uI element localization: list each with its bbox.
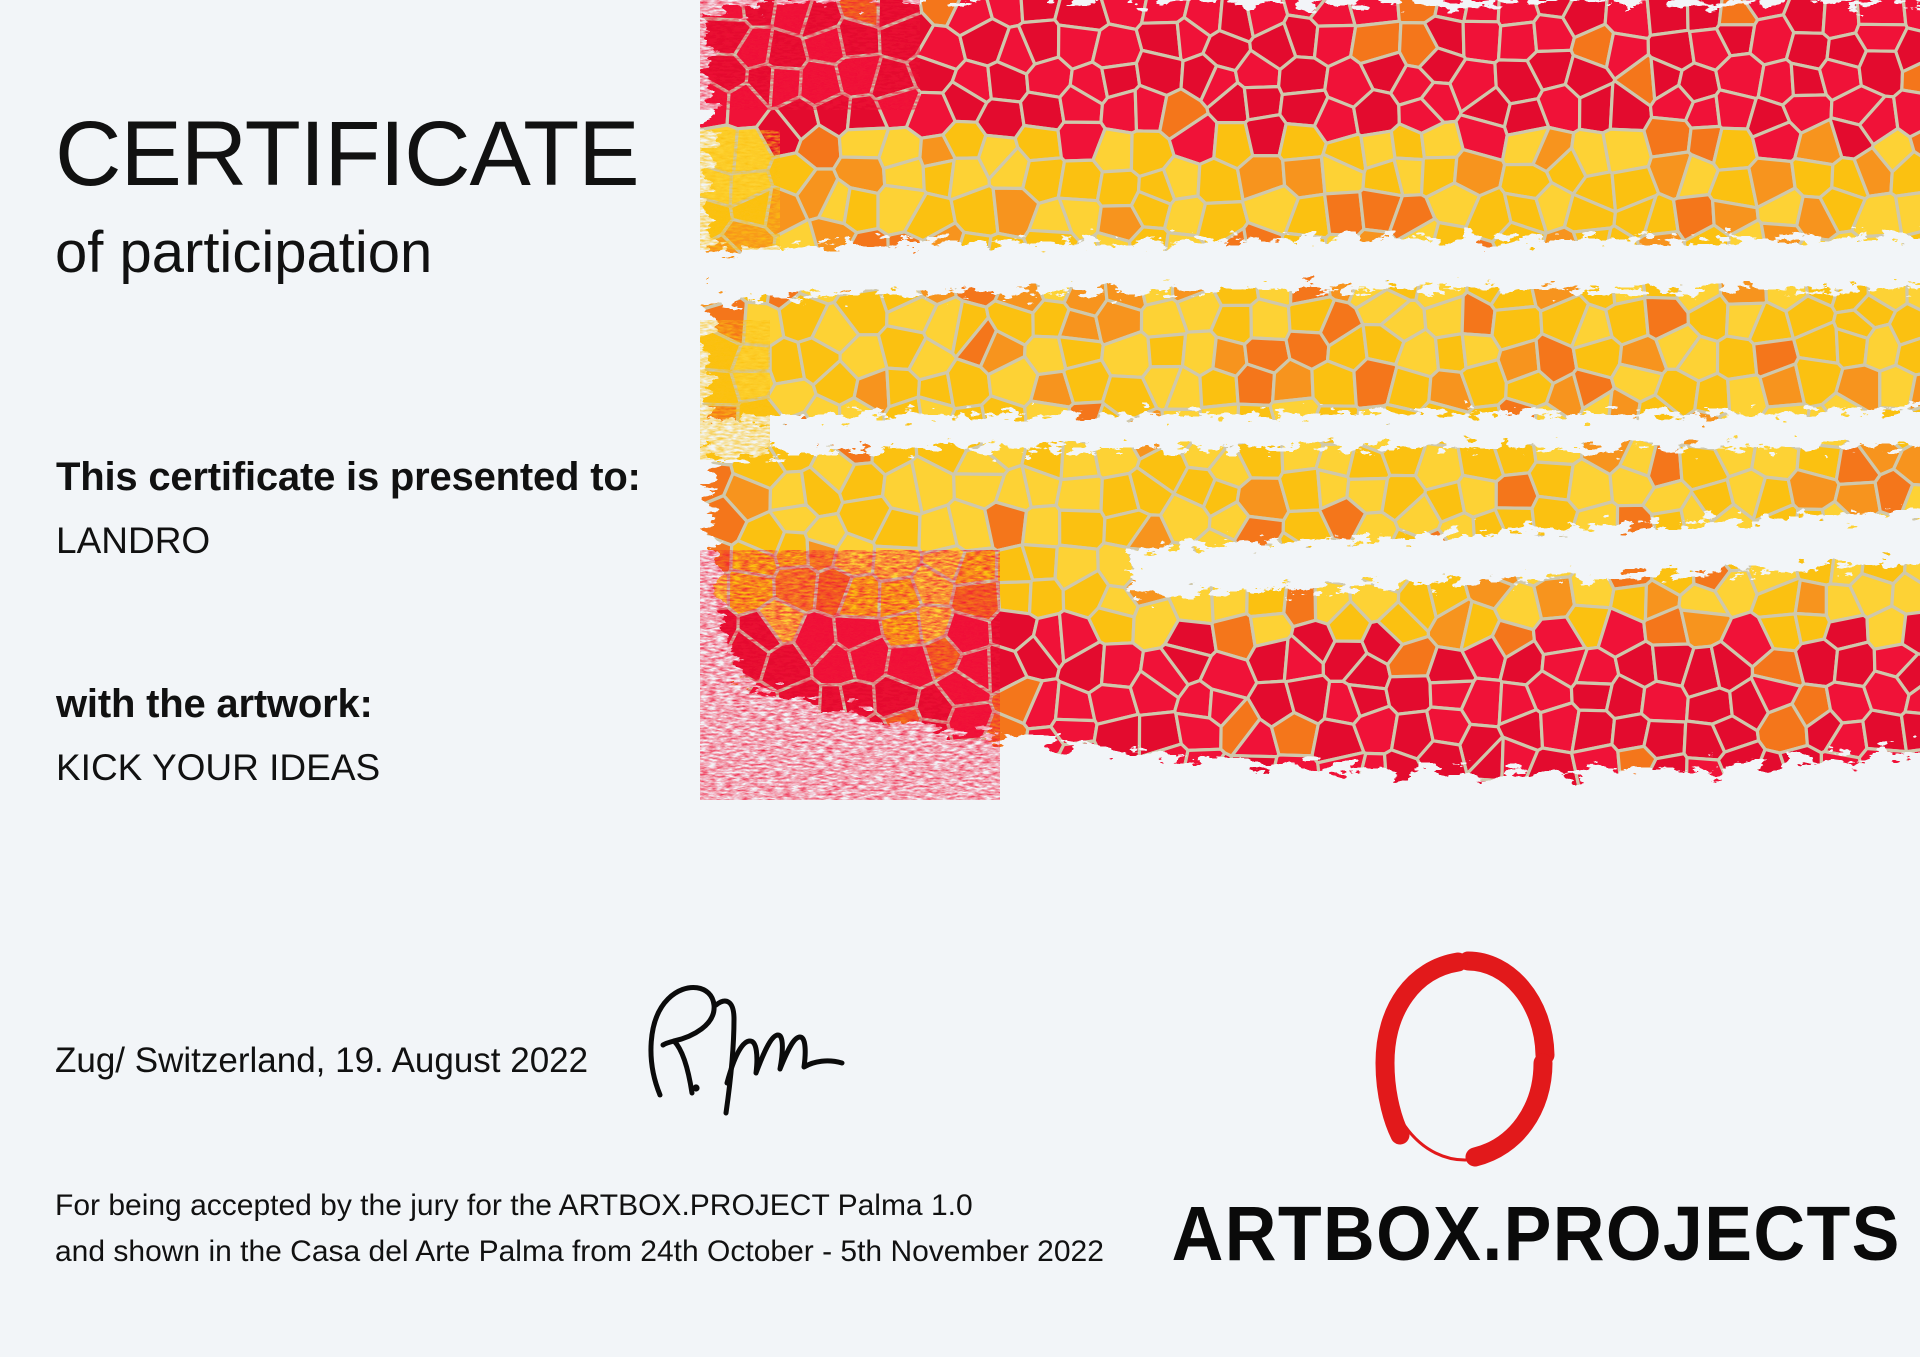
mosaic-cell: [1201, 753, 1238, 801]
mosaic-cell: [700, 706, 742, 750]
mosaic-cell: [1427, 707, 1471, 745]
mosaic-cell: [1430, 681, 1474, 710]
mosaic-cell: [1291, 266, 1331, 305]
mosaic-cell: [1133, 598, 1179, 651]
mosaic-cell: [1751, 675, 1801, 713]
mosaic-cell: [811, 770, 850, 817]
mosaic-cell: [1859, 749, 1906, 793]
mosaic-cell: [1058, 777, 1097, 818]
mosaic-cell: [700, 608, 738, 647]
mosaic-cell: [1170, 825, 1206, 862]
mosaic-cell: [1059, 337, 1104, 369]
mosaic-cell: [1322, 154, 1365, 194]
mosaic-cell: [1015, 0, 1080, 23]
mosaic-cell: [1641, 681, 1688, 722]
mosaic-cell: [1527, 50, 1573, 90]
mosaic-cell: [772, 819, 821, 862]
mosaic-cell: [1089, 608, 1135, 644]
mosaic-cell: [1564, 194, 1615, 232]
mosaic-cell: [1711, 641, 1752, 691]
mosaic-cell: [1104, 510, 1150, 548]
mosaic-cell: [1571, 683, 1612, 711]
mosaic-cell: [738, 511, 785, 556]
mosaic-cell: [1210, 689, 1247, 727]
mosaic-cell: [1385, 750, 1428, 799]
mosaic-cell: [1027, 57, 1073, 97]
mosaic-cell: [1716, 90, 1756, 129]
mosaic-cell: [731, 371, 775, 402]
mosaic-cell: [1503, 127, 1550, 165]
mosaic-cell: [1396, 329, 1439, 377]
mosaic-cell: [1064, 274, 1107, 317]
mosaic-cell: [1183, 331, 1217, 376]
mosaic-cell: [956, 318, 997, 367]
mosaic-cell: [1394, 158, 1423, 196]
mosaic-cell: [1200, 651, 1257, 698]
mosaic-cell: [1030, 579, 1064, 619]
mosaic-cell: [1161, 494, 1211, 545]
mosaic-cell: [1831, 540, 1865, 586]
brand-wordmark: ARTBOX.PROJECTS: [1172, 1190, 1879, 1279]
mosaic-cell: [848, 778, 882, 819]
mosaic-cell: [1718, 815, 1769, 858]
mosaic-cell: [849, 636, 891, 685]
mosaic-cell: [1395, 494, 1441, 538]
mosaic-cell: [919, 505, 957, 554]
mosaic-cell: [700, 570, 729, 619]
mosaic-cell: [1757, 188, 1803, 226]
mosaic-cell: [1381, 300, 1426, 341]
mosaic-cell: [1462, 292, 1495, 336]
mosaic-cell: [735, 27, 773, 69]
mosaic-cell: [1273, 359, 1314, 402]
mosaic-cell: [1392, 846, 1439, 890]
mosaic-cell: [1142, 367, 1181, 411]
mosaic-cell: [1750, 750, 1790, 799]
mosaic-cell: [1284, 579, 1316, 626]
mosaic-cell: [1859, 235, 1906, 272]
mosaic-cell: [1692, 543, 1730, 591]
mosaic-cell: [819, 179, 851, 224]
mosaic-cell: [1797, 444, 1842, 480]
mosaic-cell: [1826, 584, 1863, 622]
mosaic-cell: [1892, 770, 1920, 817]
mosaic-cell: [739, 744, 784, 789]
mosaic-cell: [772, 0, 825, 36]
mosaic-cell: [1822, 790, 1870, 827]
mosaic-cell: [1795, 119, 1842, 164]
mosaic-cell: [798, 338, 840, 385]
mosaic-cell: [1674, 195, 1715, 241]
mosaic-cell: [1656, 324, 1700, 369]
mosaic-cell: [1356, 289, 1410, 324]
mosaic-cell: [1021, 92, 1064, 130]
mosaic-cell: [912, 747, 957, 785]
mosaic-cell: [1858, 512, 1913, 552]
mosaic-cell: [1765, 264, 1808, 312]
mosaic-cell: [810, 445, 855, 494]
mosaic-cell: [1496, 473, 1538, 509]
mosaic-cell: [1019, 20, 1059, 64]
mosaic-cell: [1135, 85, 1167, 131]
mosaic-cell: [985, 502, 1027, 551]
artbox-ring-icon: [1350, 945, 1580, 1175]
mosaic-cell: [1310, 406, 1358, 445]
mosaic-cell: [1752, 431, 1799, 480]
mosaic-cell: [1181, 54, 1217, 101]
mosaic-cell: [1105, 267, 1146, 311]
mosaic-cell: [1019, 855, 1101, 890]
mosaic-cell: [1051, 719, 1097, 744]
mosaic-cell: [1681, 492, 1712, 548]
mosaic-cell: [854, 368, 889, 415]
place-and-date: Zug/ Switzerland, 19. August 2022: [55, 1042, 588, 1081]
mosaic-cell: [1284, 635, 1323, 682]
mosaic-cell: [1850, 574, 1894, 618]
mosaic-cell: [1176, 713, 1221, 750]
mosaic-cell: [1749, 302, 1793, 344]
mosaic-cell: [1033, 300, 1069, 337]
mosaic-cell: [1542, 648, 1587, 688]
mosaic-cell: [878, 0, 922, 29]
mosaic-cell: [1283, 233, 1326, 268]
mosaic-cell: [1328, 324, 1368, 371]
mosaic-cell: [1644, 117, 1691, 157]
mosaic-cell: [1182, 854, 1215, 890]
mosaic-cell: [1525, 779, 1571, 822]
mosaic-cell: [1466, 187, 1511, 242]
mosaic-cell: [767, 28, 808, 69]
mosaic-cell: [803, 26, 845, 65]
mosaic-cell: [1572, 745, 1621, 796]
mosaic-cell: [1015, 636, 1059, 681]
mosaic-cell: [1289, 297, 1335, 333]
mosaic-cell: [1864, 671, 1909, 715]
mosaic-cell: [1242, 818, 1288, 852]
mosaic-cell: [1130, 227, 1169, 270]
mosaic-cell: [1285, 194, 1329, 238]
mosaic-cell: [996, 545, 1033, 583]
mosaic-cell: [1496, 778, 1529, 820]
mosaic-cell: [1534, 577, 1575, 619]
mosaic-cell: [1022, 545, 1057, 581]
mosaic-cell: [1503, 0, 1619, 18]
mosaic-cell: [1093, 843, 1146, 891]
mosaic-cell: [1059, 25, 1101, 69]
mosaic-cell: [1453, 820, 1498, 864]
mosaic-cell: [1064, 360, 1111, 404]
mosaic-cell: [1652, 644, 1694, 686]
mosaic-cell: [1347, 819, 1401, 870]
mosaic-cell: [1283, 157, 1325, 198]
mosaic-cell: [1387, 367, 1431, 412]
mosaic-cell: [1160, 89, 1209, 140]
mosaic-cell: [797, 169, 838, 220]
mosaic-cell: [1573, 172, 1615, 212]
mosaic-cell: [1363, 325, 1404, 365]
mosaic-cell: [1210, 228, 1251, 272]
mosaic-cell: [1094, 435, 1140, 478]
mosaic-cell: [1247, 639, 1288, 683]
mosaic-cell: [1684, 721, 1725, 760]
mosaic-cell: [1094, 714, 1139, 763]
mosaic-cell: [1715, 412, 1758, 448]
mosaic-cell: [1207, 83, 1248, 123]
mosaic-cell: [1320, 300, 1363, 346]
mosaic-cell: [1390, 813, 1439, 850]
mosaic-cell: [1686, 95, 1720, 128]
mosaic-cell: [1162, 409, 1203, 454]
mosaic-cell: [1610, 585, 1646, 623]
mosaic-cell: [1028, 816, 1066, 857]
mosaic-cell: [830, 432, 874, 464]
mosaic-cell: [700, 253, 741, 316]
mosaic-cell: [1534, 425, 1583, 465]
mosaic-cell: [1826, 682, 1872, 723]
mosaic-cell: [1137, 446, 1188, 494]
mosaic-cell: [1055, 846, 1105, 890]
artwork-block: with the artwork: KICK YOUR IDEAS: [56, 682, 380, 789]
mosaic-cell: [1350, 512, 1398, 560]
mosaic-cell: [1852, 0, 1906, 25]
mosaic-cell: [1242, 539, 1290, 586]
mosaic-cell: [1382, 475, 1426, 521]
mosaic-cell: [1541, 295, 1589, 347]
mosaic-cell: [1455, 150, 1505, 196]
mosaic-cell: [1572, 129, 1610, 176]
mosaic-cell: [1632, 780, 1676, 815]
mosaic-cell: [948, 739, 994, 783]
mosaic-cell: [700, 520, 732, 573]
mosaic-cell: [700, 16, 752, 55]
mosaic-cell: [1642, 256, 1691, 298]
mosaic-cell: [1713, 200, 1759, 236]
mosaic-cell: [1606, 550, 1652, 589]
mosaic-cell: [1495, 60, 1543, 104]
mosaic-cell: [1795, 639, 1837, 687]
mosaic-cell: [1854, 862, 1920, 890]
mosaic-cell: [1136, 22, 1181, 59]
mosaic-cell: [1758, 614, 1801, 651]
mosaic-cell: [1672, 781, 1716, 827]
mosaic-cell: [1396, 219, 1439, 265]
artwork-label: with the artwork:: [56, 682, 380, 726]
mosaic-cell: [1383, 254, 1423, 301]
mosaic-cell: [743, 302, 784, 346]
mosaic-cell: [1875, 469, 1913, 518]
mosaic-cell: [1349, 265, 1388, 309]
mosaic-cell: [1456, 236, 1501, 286]
mosaic-cell: [1533, 403, 1577, 445]
mosaic-cell: [1642, 813, 1686, 859]
mosaic-cell: [1498, 710, 1543, 751]
mosaic-cell: [952, 232, 991, 274]
mosaic-cell: [924, 297, 963, 354]
mosaic-cell: [1089, 789, 1130, 821]
mosaic-cell: [1834, 642, 1875, 686]
mosaic-cell: [883, 461, 923, 515]
mosaic-cell: [1417, 741, 1467, 786]
mosaic-cell: [1314, 97, 1358, 143]
mosaic-cell: [945, 611, 991, 654]
mosaic-cell: [1557, 785, 1607, 837]
mosaic-cell: [924, 636, 962, 682]
mosaic-cell: [1400, 23, 1438, 68]
mosaic-cell: [700, 361, 740, 405]
mosaic-cell: [1175, 681, 1212, 719]
mosaic-cell: [1286, 675, 1330, 724]
mosaic-cell: [700, 814, 740, 862]
mosaic-cell: [1323, 641, 1367, 681]
mosaic-cell: [1820, 59, 1862, 101]
mosaic-cell: [1065, 402, 1103, 443]
mosaic-cell: [1214, 789, 1251, 839]
mosaic-cell: [1565, 55, 1614, 98]
mosaic-cell: [1685, 225, 1730, 272]
mosaic-cell: [716, 814, 772, 854]
mosaic-cell: [1354, 781, 1400, 822]
mosaic-cell: [1031, 783, 1064, 819]
mosaic-cell: [802, 467, 843, 517]
mosaic-cell: [731, 188, 772, 227]
mosaic-cell: [1761, 223, 1805, 266]
mosaic-cell: [1533, 128, 1574, 172]
mosaic-cell: [1831, 86, 1885, 125]
mosaic-cell: [836, 257, 883, 295]
mosaic-cell: [1236, 364, 1274, 405]
mosaic-cell: [1832, 158, 1869, 199]
mosaic-cell: [878, 326, 926, 370]
mosaic-cell: [1648, 444, 1682, 488]
mosaic-cell: [1491, 268, 1536, 310]
mosaic-cell: [1498, 340, 1539, 383]
mosaic-cell: [1596, 857, 1649, 890]
mosaic-cell: [1245, 115, 1286, 156]
mosaic-cell: [700, 454, 733, 521]
mosaic-cell: [1797, 196, 1839, 240]
mosaic-cell: [1138, 265, 1173, 305]
mosaic-cell: [872, 422, 917, 475]
mosaic-cell: [1495, 508, 1535, 546]
mosaic-cell: [1182, 430, 1226, 470]
mosaic-cell: [801, 0, 843, 39]
mosaic-cell: [926, 858, 974, 890]
mosaic-cell: [1536, 334, 1577, 384]
mosaic-cell: [1641, 853, 1696, 890]
mosaic-cell: [1635, 395, 1684, 444]
mosaic-cell: [949, 158, 989, 200]
mosaic-cell: [1714, 128, 1758, 170]
mosaic-cell: [1708, 536, 1761, 571]
mosaic-cell: [780, 746, 814, 793]
mosaic-cell: [1096, 300, 1142, 345]
mosaic-cell: [1351, 21, 1401, 63]
mosaic-cell: [1570, 502, 1618, 551]
mosaic-cell: [1617, 505, 1659, 553]
mosaic-cell: [1780, 745, 1822, 791]
mosaic-cell: [1804, 405, 1849, 448]
mosaic-cell: [805, 513, 847, 548]
mosaic-cell: [1314, 25, 1355, 66]
mosaic-cell: [1023, 158, 1065, 204]
mosaic-cell: [1822, 393, 1873, 441]
mosaic-cell: [1603, 226, 1642, 269]
mosaic-cell: [918, 372, 953, 406]
mosaic-cell: [874, 675, 920, 718]
mosaic-cell: [1901, 712, 1920, 752]
mosaic-cell: [1022, 466, 1061, 508]
mosaic-cell: [1528, 260, 1580, 311]
mosaic-cell: [700, 142, 732, 207]
mosaic-cell: [729, 629, 769, 681]
mosaic-cell: [849, 816, 891, 867]
mosaic-cell: [1025, 401, 1070, 439]
mosaic-cell: [879, 577, 922, 619]
mosaic-cell: [1398, 575, 1436, 632]
mosaic-cell: [1563, 0, 1614, 38]
mosaic-cell: [802, 742, 845, 787]
mosaic-cell: [1070, 236, 1113, 283]
mosaic-cell: [1359, 861, 1429, 890]
mosaic-cell: [1728, 375, 1768, 423]
mosaic-cell: [1573, 228, 1611, 270]
mosaic-cell: [1025, 336, 1066, 374]
mosaic-cell: [1547, 148, 1586, 194]
mosaic-cell: [1079, 0, 1165, 29]
mosaic-cell: [954, 474, 1005, 509]
mosaic-cell: [770, 67, 801, 109]
mosaic-cell: [873, 864, 942, 890]
mosaic-cell: [1752, 649, 1803, 687]
mosaic-cell: [1783, 815, 1828, 858]
mosaic-cell: [1213, 269, 1259, 305]
mosaic-cell: [1504, 193, 1546, 234]
mosaic-cell: [873, 508, 920, 549]
mosaic-cell: [948, 499, 993, 551]
mosaic-cell: [1726, 303, 1764, 340]
mosaic-cell: [700, 777, 750, 822]
mosaic-cell: [1498, 398, 1536, 445]
mosaic-cell: [839, 128, 888, 158]
mosaic-cell: [1328, 601, 1371, 641]
mosaic-cell: [1863, 710, 1907, 752]
mosaic-cell: [1031, 260, 1078, 303]
mosaic-cell: [1644, 720, 1686, 758]
mosaic-cell: [887, 368, 920, 407]
mosaic-cell: [1354, 359, 1397, 409]
mosaic-cell: [1677, 155, 1718, 199]
mosaic-cell: [1828, 813, 1878, 858]
mosaic-cell: [904, 193, 955, 241]
mosaic-cell: [1721, 612, 1774, 667]
mosaic-cell: [1282, 431, 1324, 473]
mosaic-cell: [884, 158, 925, 191]
mosaic-cell: [1473, 850, 1521, 890]
mosaic-cell: [1392, 711, 1434, 759]
mosaic-cell: [1356, 406, 1394, 453]
mosaic-cell: [1128, 772, 1177, 821]
mosaic-cell: [840, 335, 887, 380]
mosaic-cell: [833, 533, 875, 577]
mosaic-cell: [1573, 369, 1614, 409]
mosaic-cell: [1356, 552, 1409, 593]
mosaic-cell: [1747, 546, 1798, 594]
mosaic-cell: [1715, 431, 1759, 477]
mosaic-cell: [700, 172, 733, 268]
mosaic-cell: [1576, 824, 1616, 858]
mosaic-cell: [1291, 620, 1335, 663]
mosaic-cell: [1757, 704, 1807, 753]
